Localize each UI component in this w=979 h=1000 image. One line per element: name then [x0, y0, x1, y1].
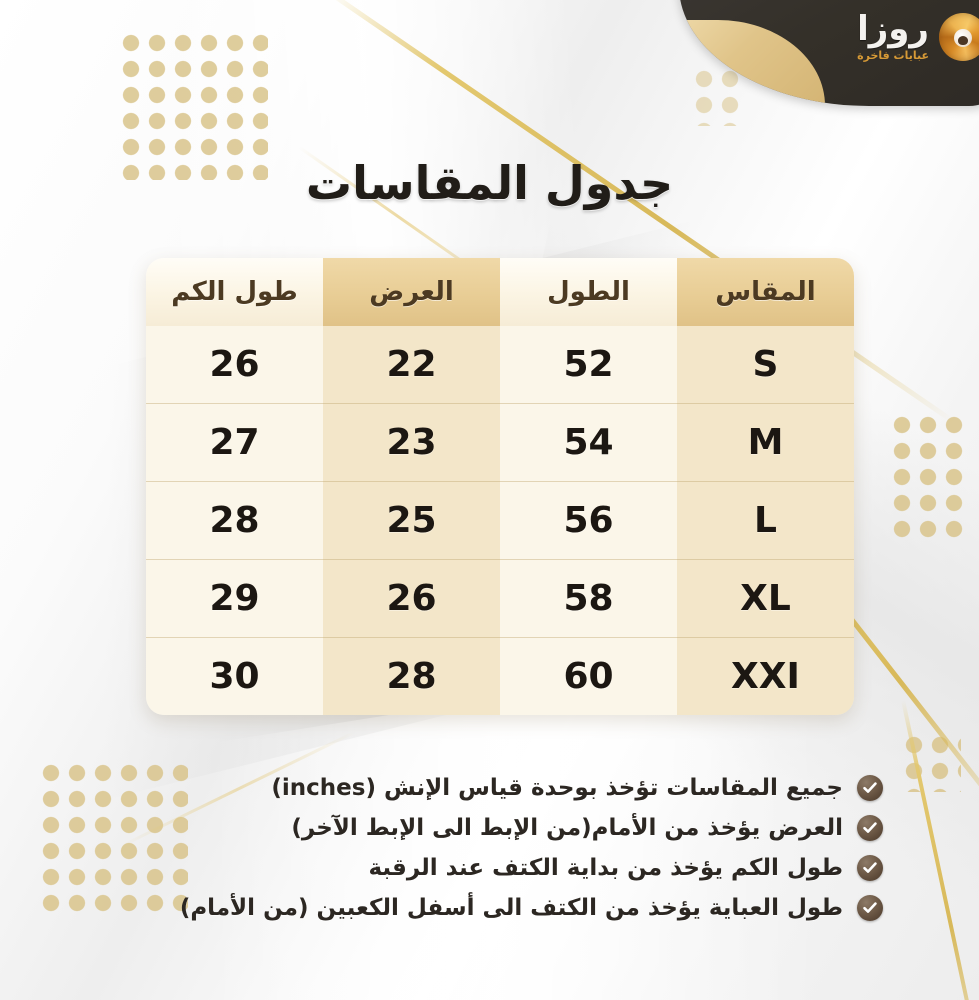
cell-sleeve: 30 — [146, 638, 323, 716]
check-badge-icon — [857, 855, 883, 881]
column-header-width: العرض — [323, 258, 500, 326]
cell-width: 26 — [323, 560, 500, 638]
rose-swirl-icon — [939, 13, 979, 61]
size-table: المقاس الطول العرض طول الكم S 52 22 26 M… — [146, 258, 854, 715]
cell-sleeve: 28 — [146, 482, 323, 560]
cell-sleeve: 26 — [146, 326, 323, 404]
brand-logo-panel: روزا عبايات فاخرة — [679, 0, 979, 106]
cell-length: 58 — [500, 560, 677, 638]
table-row: XL 58 26 29 — [146, 560, 854, 638]
page-title: جدول المقاسات — [0, 156, 979, 210]
size-table-container: المقاس الطول العرض طول الكم S 52 22 26 M… — [146, 258, 854, 715]
note-text: طول الكم يؤخذ من بداية الكتف عند الرقبة — [368, 855, 843, 881]
cell-width: 23 — [323, 404, 500, 482]
note-item: جميع المقاسات تؤخذ بوحدة قياس الإنش (inc… — [40, 775, 883, 801]
note-item: طول الكم يؤخذ من بداية الكتف عند الرقبة — [40, 855, 883, 881]
cell-size: XL — [677, 560, 854, 638]
cell-sleeve: 27 — [146, 404, 323, 482]
table-row: M 54 23 27 — [146, 404, 854, 482]
note-text: طول العباية يؤخذ من الكتف الى أسفل الكعب… — [180, 895, 843, 921]
size-chart-poster: روزا عبايات فاخرة جدول المقاسات المقاس ا… — [0, 0, 979, 1000]
cell-size: M — [677, 404, 854, 482]
brand-tagline: عبايات فاخرة — [857, 50, 929, 61]
cell-width: 25 — [323, 482, 500, 560]
cell-size: L — [677, 482, 854, 560]
cell-size: S — [677, 326, 854, 404]
cell-width: 28 — [323, 638, 500, 716]
dot-grid-right — [889, 412, 967, 540]
note-text: جميع المقاسات تؤخذ بوحدة قياس الإنش (inc… — [271, 775, 843, 801]
size-table-header: المقاس الطول العرض طول الكم — [146, 258, 854, 326]
note-item: العرض يؤخذ من الأمام(من الإبط الى الإبط … — [40, 815, 883, 841]
cell-width: 22 — [323, 326, 500, 404]
brand-wordmark: روزا عبايات فاخرة — [857, 12, 929, 61]
check-badge-icon — [857, 815, 883, 841]
measurement-notes: جميع المقاسات تؤخذ بوحدة قياس الإنش (inc… — [0, 775, 979, 935]
table-header-row: المقاس الطول العرض طول الكم — [146, 258, 854, 326]
table-row: S 52 22 26 — [146, 326, 854, 404]
cell-length: 54 — [500, 404, 677, 482]
size-table-body: S 52 22 26 M 54 23 27 L 56 25 28 — [146, 326, 854, 715]
cell-length: 60 — [500, 638, 677, 716]
column-header-sleeve-length: طول الكم — [146, 258, 323, 326]
brand-name: روزا — [857, 12, 929, 46]
table-row: L 56 25 28 — [146, 482, 854, 560]
table-row: XXI 60 28 30 — [146, 638, 854, 716]
cell-sleeve: 29 — [146, 560, 323, 638]
column-header-length: الطول — [500, 258, 677, 326]
cell-size: XXI — [677, 638, 854, 716]
note-text: العرض يؤخذ من الأمام(من الإبط الى الإبط … — [291, 815, 843, 841]
check-badge-icon — [857, 895, 883, 921]
cell-length: 56 — [500, 482, 677, 560]
logo-panel-gold-accent — [679, 20, 825, 106]
column-header-size: المقاس — [677, 258, 854, 326]
brand-logo: روزا عبايات فاخرة — [857, 12, 979, 61]
cell-length: 52 — [500, 326, 677, 404]
check-badge-icon — [857, 775, 883, 801]
note-item: طول العباية يؤخذ من الكتف الى أسفل الكعب… — [40, 895, 883, 921]
